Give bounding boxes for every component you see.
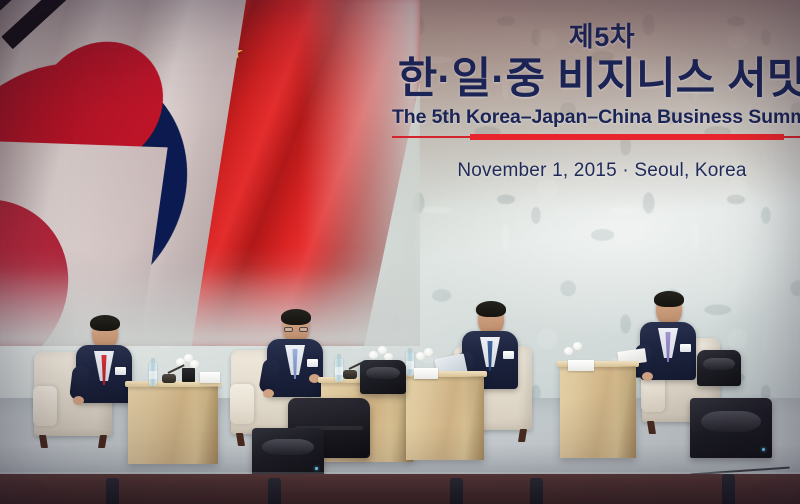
name-badge <box>307 359 318 367</box>
speaker-grille <box>366 367 399 379</box>
hair <box>654 291 684 307</box>
water-bottle <box>335 358 343 382</box>
stage-bollard-4 <box>530 478 543 504</box>
banner-rule <box>392 134 800 140</box>
banner-edition-kr: 제5차 <box>392 24 800 51</box>
hand <box>263 389 274 398</box>
stage-bollard-2 <box>268 478 281 504</box>
stage-bollard-1 <box>106 478 119 504</box>
stage-monitor-wedge-3 <box>697 350 741 386</box>
water-bottle <box>406 352 414 376</box>
stage-monitor-wedge-4 <box>690 398 772 458</box>
stage-monitor-wedge-1 <box>360 360 406 394</box>
speaker-grille <box>701 411 760 431</box>
banner-rule-thick <box>470 134 784 140</box>
power-led <box>762 448 765 451</box>
summit-banner-text: 제5차 한·일·중 비지니스 서밋 The 5th Korea–Japan–Ch… <box>392 24 800 182</box>
hand <box>73 396 84 405</box>
power-led <box>315 467 318 470</box>
head <box>656 294 682 325</box>
microphone-base <box>343 370 357 379</box>
banner-date-location: November 1, 2015 · Seoul, Korea <box>392 160 800 182</box>
hair <box>281 309 311 325</box>
hair <box>476 301 506 317</box>
side-table <box>128 386 218 464</box>
banner-title-kr: 한·일·중 비지니스 서밋 <box>392 55 800 103</box>
side-table <box>406 376 484 460</box>
name-badge <box>115 367 126 375</box>
stage-bollard-3 <box>450 478 463 504</box>
stage-monitor-wedge-2 <box>252 428 324 476</box>
table-shading <box>616 366 636 458</box>
drape-bottom-feather <box>0 268 420 346</box>
speaker-grille <box>262 439 314 455</box>
side-table <box>560 366 636 458</box>
name-badge <box>680 344 691 352</box>
water-bottle <box>149 362 157 386</box>
name-card <box>414 368 438 379</box>
name-card <box>568 360 594 371</box>
table-shading <box>195 386 218 464</box>
hand <box>642 372 653 381</box>
stage-bollard-5 <box>722 474 735 504</box>
speaker-grille <box>703 358 735 370</box>
name-card <box>200 372 220 383</box>
table-shading <box>464 376 484 460</box>
eyeglasses <box>284 327 308 332</box>
microphone-base <box>162 374 176 383</box>
summit-photo: ★ ★ ★ ★ ★ 제5차 한·일·중 비지니스 서밋 The 5th Kore… <box>0 0 800 504</box>
chair-legs <box>38 435 108 448</box>
stage-apron <box>0 474 800 504</box>
hair <box>90 315 120 331</box>
flag-drape-group: ★ ★ ★ ★ ★ <box>0 0 420 346</box>
orchid-flowers <box>176 354 202 372</box>
name-badge <box>503 351 514 359</box>
banner-title-en: The 5th Korea–Japan–China Business Summi… <box>392 106 800 129</box>
orchid-flowers <box>416 348 442 366</box>
orchid-flowers <box>564 342 590 360</box>
